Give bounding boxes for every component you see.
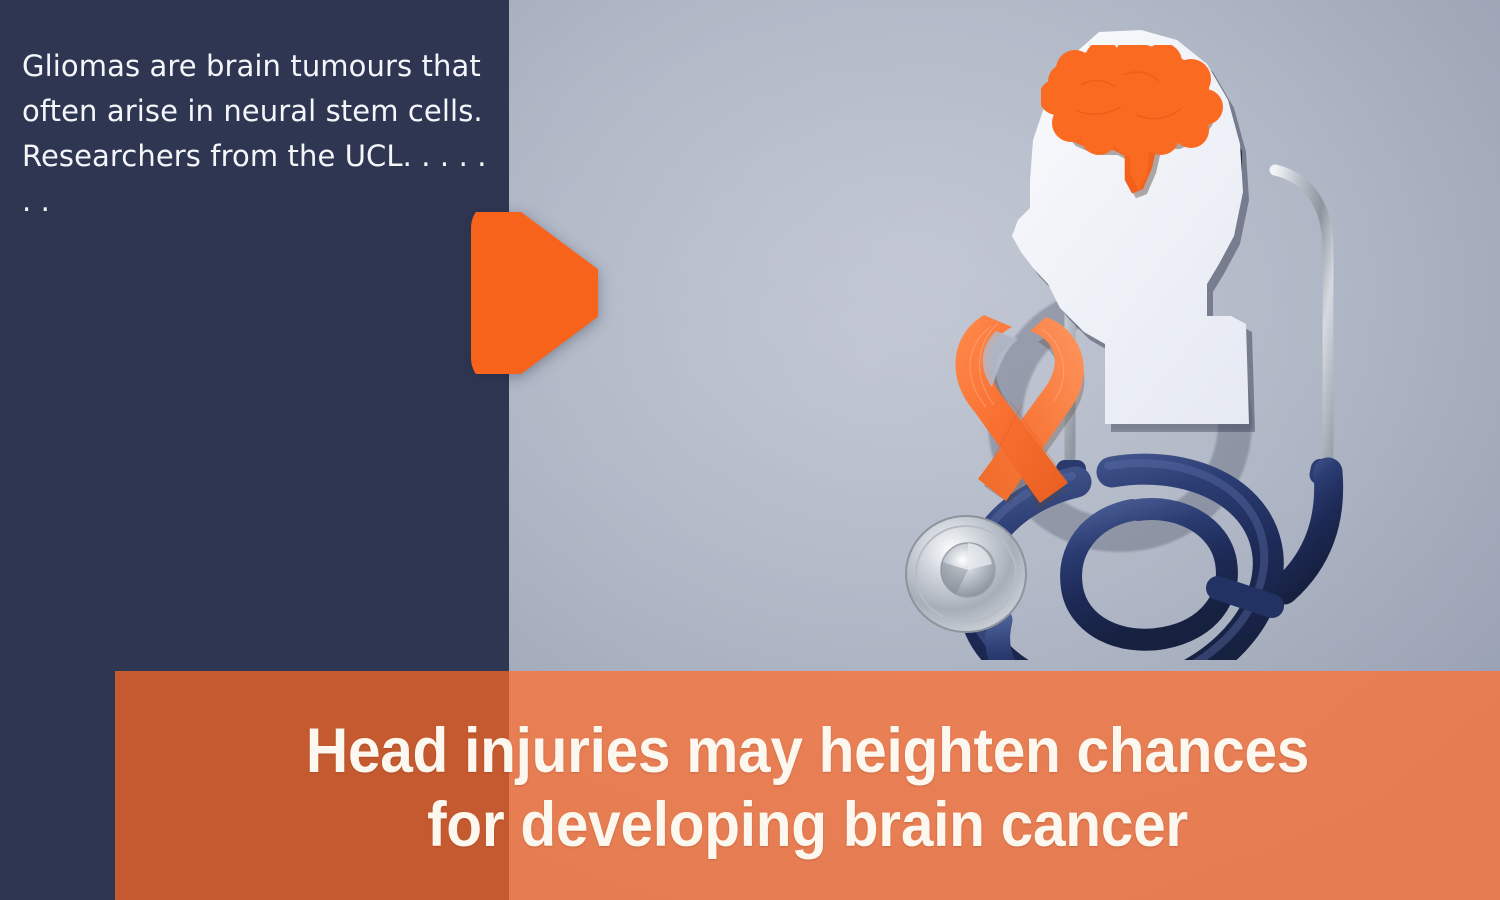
article-lede: Gliomas are brain tumours that often ari… xyxy=(22,44,488,224)
headline-line-2: for developing brain cancer xyxy=(427,788,1188,862)
page-title: Head injuries may heighten chances for d… xyxy=(163,671,1451,900)
play-triangle-icon xyxy=(462,212,598,374)
play-button[interactable] xyxy=(462,212,598,374)
news-card: Gliomas are brain tumours that often ari… xyxy=(0,0,1500,900)
headline-line-1: Head injuries may heighten chances xyxy=(306,714,1309,788)
awareness-ribbon-icon xyxy=(938,305,1128,535)
headline-banner: Head injuries may heighten chances for d… xyxy=(115,671,1500,900)
